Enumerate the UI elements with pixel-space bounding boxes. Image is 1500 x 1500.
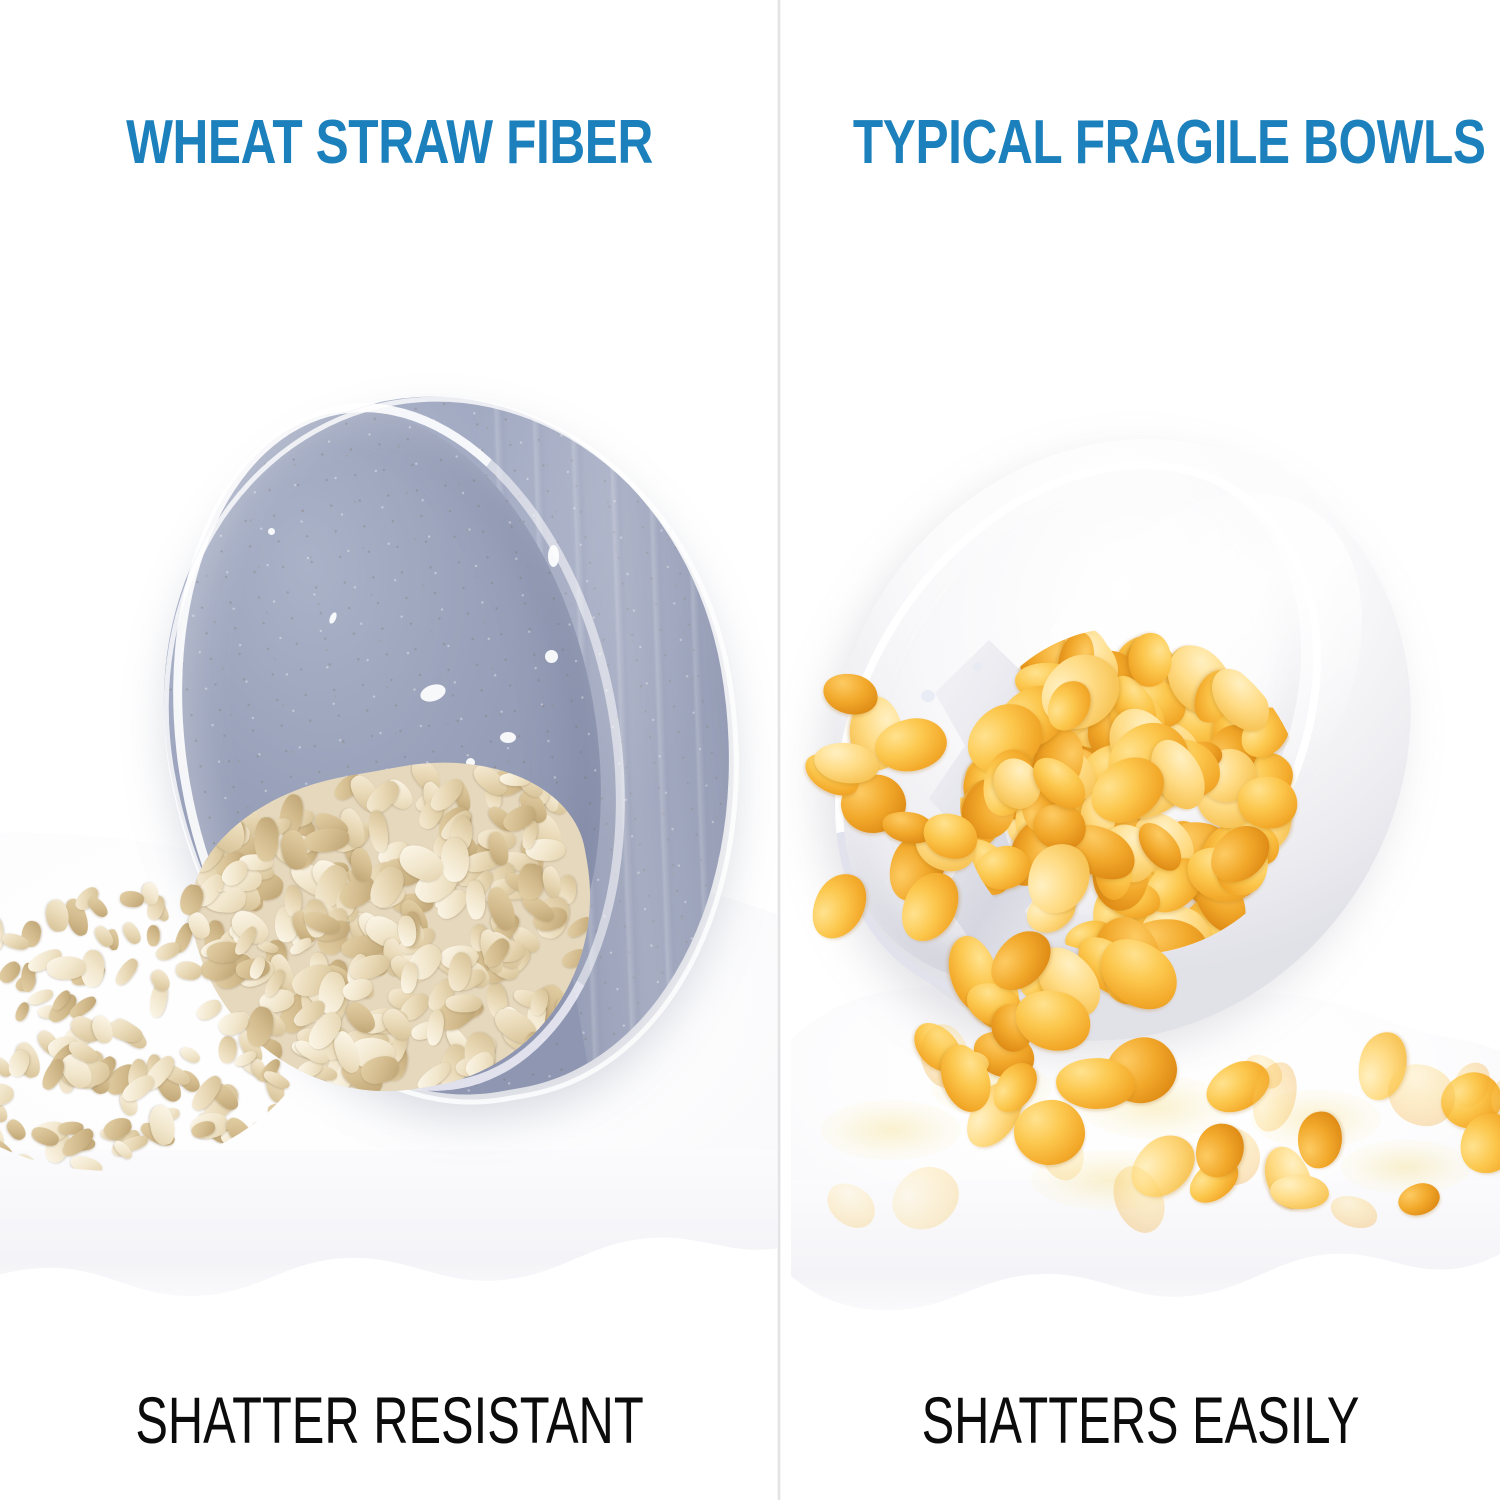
panel-wheat-straw: WHEAT STRAW FIBER SHATTER RESISTANT <box>0 0 779 1500</box>
milk-droplet <box>500 732 516 743</box>
oat-flake <box>254 816 279 861</box>
oat-flake <box>120 920 144 947</box>
scene-typical-fragile <box>781 0 1500 1500</box>
oat-flake <box>516 862 544 900</box>
oat-flake <box>13 1001 32 1024</box>
corn-flake <box>1327 1190 1382 1233</box>
milk-droplet <box>548 545 559 567</box>
oat-flake <box>141 882 160 906</box>
corn-flake <box>1269 1173 1330 1210</box>
oat-flake <box>446 994 482 1013</box>
milk-droplet <box>545 650 558 663</box>
oat-flake <box>440 838 469 883</box>
panel-caption-typical-fragile: SHATTERS EASILY <box>874 1383 1406 1457</box>
corn-flake <box>881 1155 971 1242</box>
oat-flake <box>287 935 313 957</box>
oat-flake <box>175 960 204 982</box>
milk-puddle-left-lower <box>0 1150 779 1330</box>
corn-flake <box>1394 1178 1443 1220</box>
scene-wheat-straw <box>0 0 779 1500</box>
oat-flake <box>244 1005 277 1049</box>
comparison-graphic: WHEAT STRAW FIBER SHATTER RESISTANT <box>0 0 1500 1500</box>
oat-flake <box>46 956 85 980</box>
oat-flake <box>366 809 390 853</box>
corn-flake <box>818 1174 883 1237</box>
oat-flake <box>178 1044 203 1066</box>
corn-flake <box>801 865 875 948</box>
oat-flake <box>147 925 160 946</box>
corn-flake <box>1079 745 1175 836</box>
panel-heading-wheat-straw: WHEAT STRAW FIBER <box>78 108 701 178</box>
panel-caption-wheat-straw: SHATTER RESISTANT <box>101 1383 677 1457</box>
cornflakes-spilled <box>791 1030 1500 1230</box>
oat-flake <box>4 1117 29 1143</box>
oat-flake <box>112 956 140 988</box>
panel-heading-typical-fragile: TYPICAL FRAGILE BOWLS <box>853 108 1428 178</box>
panel-typical-fragile: TYPICAL FRAGILE BOWLS SHATTERS EASILY <box>781 0 1500 1500</box>
milk-droplet <box>268 528 275 535</box>
oat-flake <box>0 1082 14 1106</box>
oat-flake <box>290 996 328 1030</box>
oat-flake <box>119 890 145 908</box>
panel-divider <box>777 0 781 1500</box>
